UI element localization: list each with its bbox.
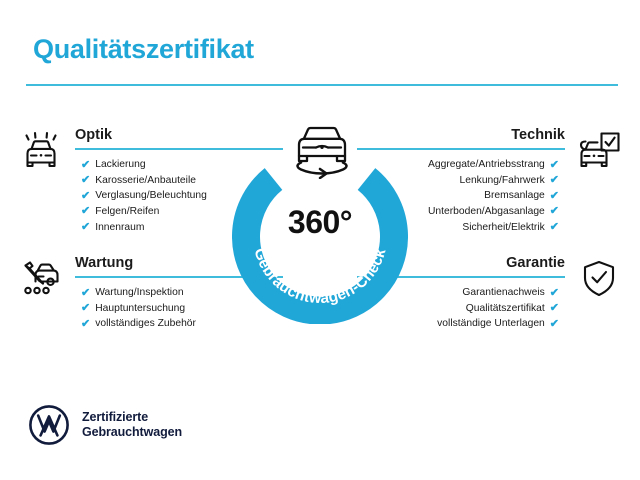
volkswagen-logo-icon [28, 404, 70, 446]
car-shine-icon [18, 130, 64, 172]
check-icon: ✔ [81, 319, 90, 330]
car-front-rotate-icon [282, 121, 362, 179]
vw-footer-line1: Zertifizierte [82, 410, 182, 425]
section-heading-optik: Optik [75, 128, 283, 148]
page-title: Qualitätszertifikat [33, 34, 254, 65]
check-icon: ✔ [550, 288, 559, 299]
check-icon: ✔ [81, 303, 90, 314]
check-icon: ✔ [81, 175, 90, 186]
check-icon: ✔ [550, 206, 559, 217]
vw-footer-text: Zertifizierte Gebrauchtwagen [82, 410, 182, 440]
check-icon: ✔ [81, 191, 90, 202]
check-icon: ✔ [81, 206, 90, 217]
check-icon: ✔ [550, 191, 559, 202]
check-icon: ✔ [81, 160, 90, 171]
badge-center-value: 360° [232, 206, 408, 238]
wrench-car-icon [18, 258, 64, 300]
check-icon: ✔ [81, 222, 90, 233]
title-divider [26, 84, 618, 86]
vw-footer-logo: Zertifizierte Gebrauchtwagen [28, 404, 182, 446]
certificate-page: Qualitätszertifikat [0, 0, 640, 480]
check-icon: ✔ [550, 222, 559, 233]
shield-check-icon [576, 258, 622, 300]
section-heading-technik: Technik [357, 128, 565, 148]
check-icon: ✔ [550, 160, 559, 171]
check-icon: ✔ [550, 319, 559, 330]
check-icon: ✔ [550, 175, 559, 186]
car-checkbox-icon [576, 130, 622, 172]
check-icon: ✔ [550, 303, 559, 314]
vw-footer-line2: Gebrauchtwagen [82, 425, 182, 440]
check-icon: ✔ [81, 288, 90, 299]
